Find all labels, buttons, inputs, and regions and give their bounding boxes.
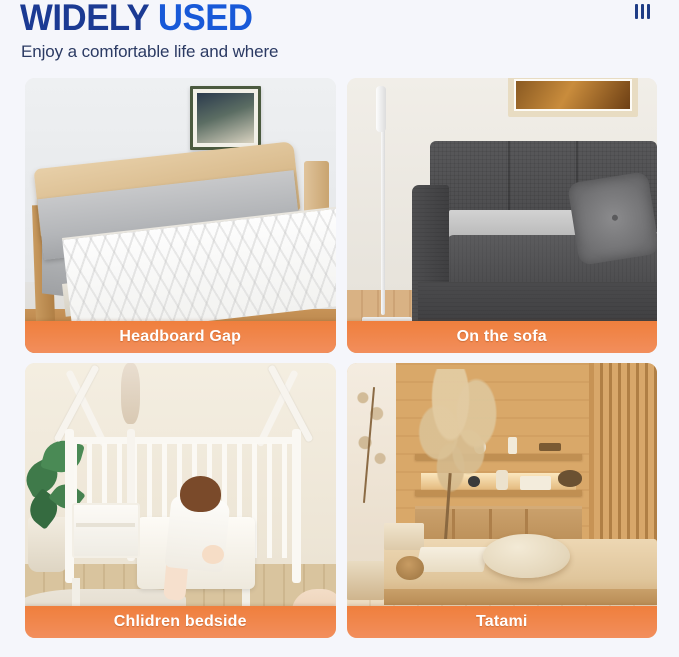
scenario-card-headboard-gap[interactable]: Headboard Gap [25, 78, 336, 353]
scene-image-tatami [347, 363, 658, 638]
scene-image-on-the-sofa [347, 78, 658, 353]
card-caption-label: On the sofa [457, 328, 547, 346]
three-vertical-bars-icon[interactable] [635, 4, 655, 20]
floor-lamp [376, 86, 386, 132]
throw-pillow [567, 171, 657, 265]
card-caption-label: Headboard Gap [119, 328, 241, 346]
usage-scenarios-grid: Headboard Gap On the sofa [25, 78, 657, 638]
page-title: WIDELY USED [20, 0, 253, 40]
scene-image-children-bedside [25, 363, 336, 638]
plant-pot [28, 517, 68, 572]
card-caption-bar: Tatami [347, 606, 658, 638]
card-caption-label: Tatami [476, 613, 528, 631]
card-caption-label: Chlidren bedside [114, 613, 247, 631]
scenario-card-on-the-sofa[interactable]: On the sofa [347, 78, 658, 353]
dried-branch-tree [409, 369, 508, 529]
low-table [415, 547, 489, 572]
page-header: WIDELY USED Enjoy a comfortable life and… [0, 0, 679, 72]
scenario-card-children-bedside[interactable]: Chlidren bedside [25, 363, 336, 638]
crib-gate-panel [72, 503, 140, 558]
scene-image-headboard-gap [25, 78, 336, 353]
wall-picture-frame [190, 86, 261, 149]
page-title-accent: USED [158, 0, 253, 38]
wall-artwork [508, 78, 638, 117]
page-title-primary: WIDELY [20, 0, 149, 38]
floor-cushion [483, 534, 570, 578]
page-subtitle: Enjoy a comfortable life and where [21, 42, 278, 62]
scenario-card-tatami[interactable]: Tatami [347, 363, 658, 638]
card-caption-bar: Chlidren bedside [25, 606, 336, 638]
card-caption-bar: Headboard Gap [25, 321, 336, 353]
wall-branch-decor [350, 374, 393, 506]
hanging-toy [121, 363, 140, 424]
card-caption-bar: On the sofa [347, 321, 658, 353]
